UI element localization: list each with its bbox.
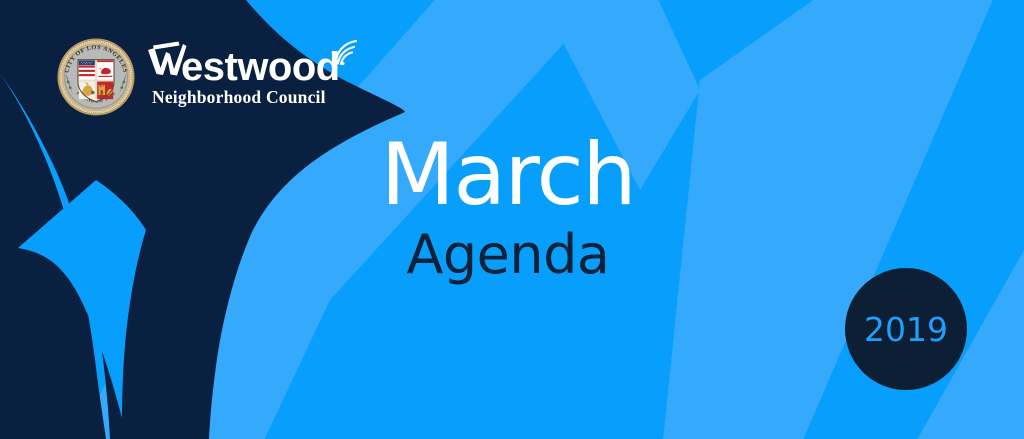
city-of-los-angeles-seal-icon: CITY OF LOS ANGELES FOUNDED 1781 <box>55 36 137 118</box>
stylized-w-icon <box>147 41 187 79</box>
agenda-banner: CITY OF LOS ANGELES FOUNDED 1781 <box>0 0 1024 439</box>
year-badge-label: 2019 <box>864 313 948 346</box>
wordmark-subtitle: Neighborhood Council <box>149 88 340 107</box>
wordmark-main: estwood <box>149 48 340 87</box>
westwood-wordmark: estwood Neighborhood Council <box>149 46 340 107</box>
wifi-signal-arcs-icon <box>332 38 362 66</box>
year-badge: 2019 <box>845 268 967 390</box>
logo-lockup: CITY OF LOS ANGELES FOUNDED 1781 <box>55 36 340 118</box>
